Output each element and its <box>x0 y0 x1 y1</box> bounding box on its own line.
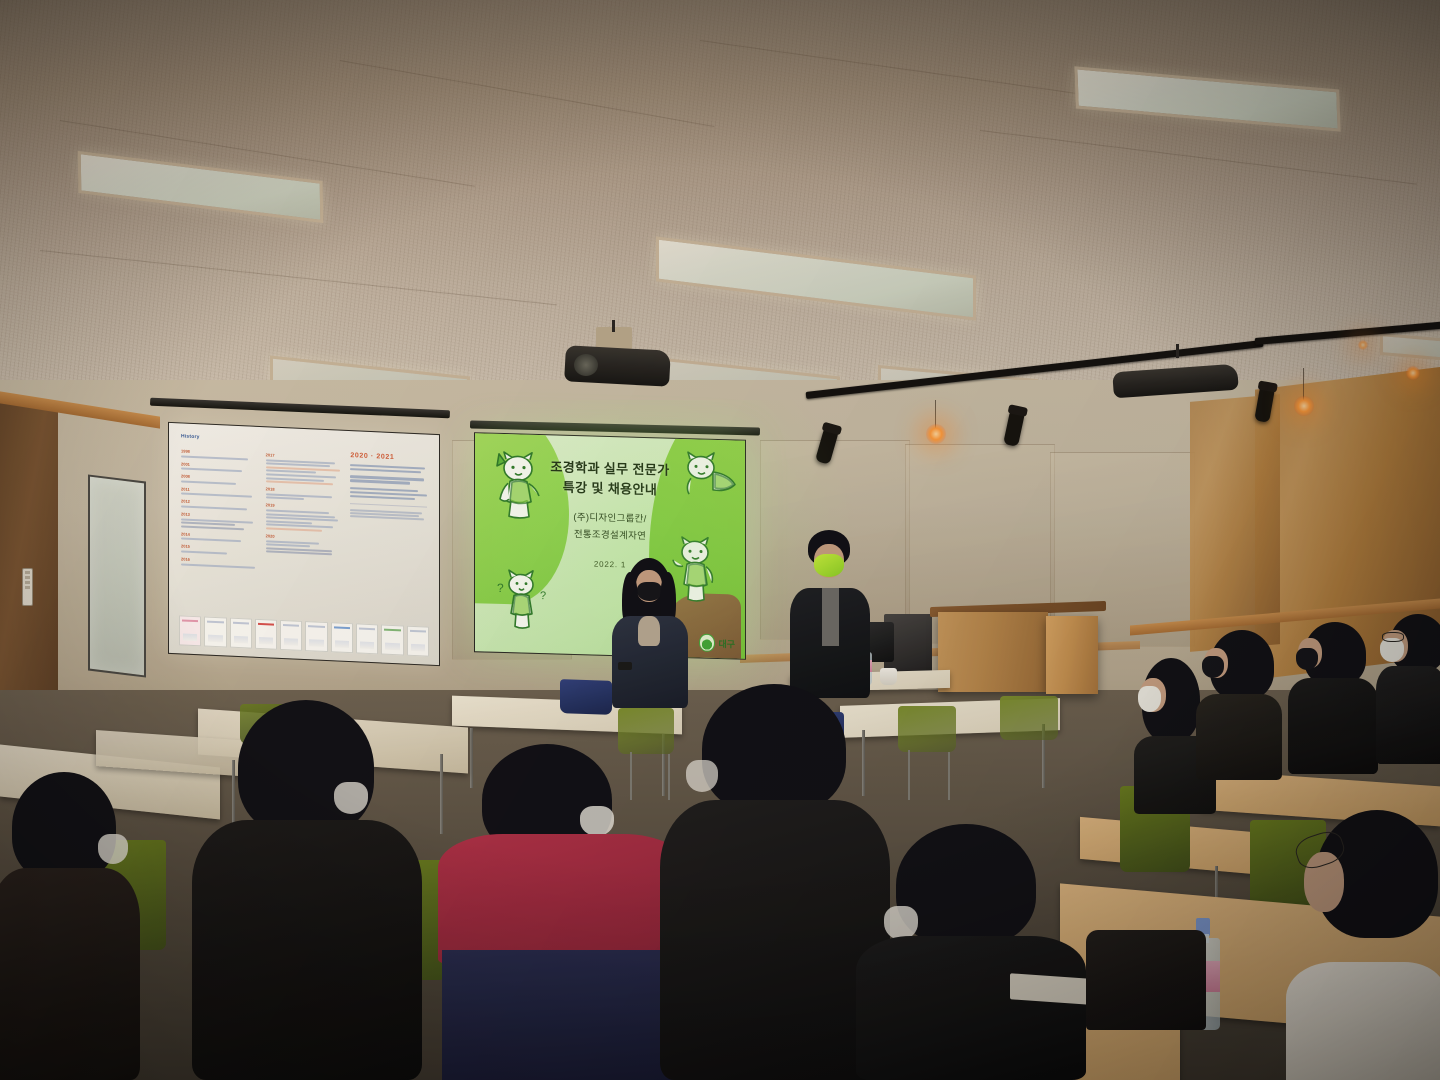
history-column-2: 2017 2018 2019 <box>266 448 343 572</box>
pendant-bulb <box>1294 396 1314 416</box>
host-face-mask <box>814 554 844 577</box>
pendant-bulb <box>926 424 946 444</box>
presenter-scarf <box>638 616 660 646</box>
projector-mount-arm <box>1176 344 1179 358</box>
chair-leg <box>948 752 950 800</box>
audience-member <box>0 772 140 1080</box>
tiger-mascot-icon: ? ? <box>495 568 551 632</box>
leaf-icon <box>699 633 715 651</box>
projection-screen-left: History 1998 2001 2008 2011 2012 2013 <box>168 422 440 666</box>
certificate-thumbnail <box>331 622 353 653</box>
daegu-logo: 대구 <box>699 633 735 652</box>
audience-member <box>1282 622 1378 772</box>
light-switch-panel[interactable] <box>22 568 33 606</box>
audience-face-mask <box>98 834 128 864</box>
audience-face-mask <box>1138 686 1161 712</box>
divider <box>350 503 427 507</box>
notebook[interactable] <box>1010 973 1090 1005</box>
certificate-thumbnail <box>407 626 429 657</box>
frosted-glass-window <box>88 474 146 677</box>
audience-face-mask <box>1202 656 1224 678</box>
audience-face-mask <box>1296 648 1318 670</box>
audience-member <box>438 744 688 1080</box>
audience-torso <box>192 820 422 1080</box>
svg-text:?: ? <box>540 590 546 602</box>
audience-member <box>1190 630 1282 778</box>
presenter-face-mask <box>637 582 662 601</box>
chair-leg <box>908 750 910 800</box>
audience-face-mask <box>334 782 368 814</box>
certificate-thumbnail <box>204 616 226 647</box>
standing-host <box>790 530 870 698</box>
projector-mount-arm <box>612 320 615 332</box>
presentation-remote[interactable] <box>618 662 632 670</box>
certificate-thumbnail <box>255 619 277 650</box>
certificate-thumbnail-row <box>179 615 429 656</box>
audience-torso <box>1288 678 1378 774</box>
audience-face-mask <box>686 760 718 792</box>
certificate-thumbnail <box>305 621 327 652</box>
audience-member <box>1286 810 1440 1080</box>
audience-face-mask <box>580 806 614 836</box>
highlight-paragraph <box>350 487 427 501</box>
award-group-footer <box>350 509 427 520</box>
paper-cup[interactable] <box>880 668 897 685</box>
audience-member <box>856 824 1086 1080</box>
audience-jacket-upper <box>438 834 688 964</box>
audience-hair <box>12 772 116 882</box>
audience-member <box>1376 614 1440 760</box>
highlight-heading: 2020 · 2021 <box>350 452 427 462</box>
logo-text: 대구 <box>718 637 735 650</box>
audience-hair <box>702 684 846 814</box>
audience-jacket-lower <box>442 950 686 1080</box>
lectern[interactable] <box>938 612 1048 692</box>
certificate-thumbnail <box>179 615 201 646</box>
highlight-paragraph <box>350 475 427 485</box>
pendant-bulb <box>1406 366 1420 380</box>
audience-torso <box>1376 666 1440 764</box>
highlight-paragraph <box>350 464 427 474</box>
chair[interactable] <box>1000 696 1058 740</box>
chair[interactable] <box>560 679 612 715</box>
audience-hair <box>238 700 374 836</box>
pendant-bulb <box>1358 340 1368 350</box>
certificate-thumbnail <box>381 625 403 656</box>
certificate-thumbnail <box>230 618 252 649</box>
history-column-1: 1998 2001 2008 2011 2012 2013 2014 <box>181 444 258 568</box>
slide-text-block: 조경학과 실무 전문가 특강 및 채용안내 (주)디자인그룹칸/ 전통조경설계자… <box>475 455 745 572</box>
lectern-side <box>1046 616 1098 694</box>
projector-lens <box>574 354 598 376</box>
certificate-thumbnail <box>356 623 378 654</box>
audience-torso <box>856 936 1086 1080</box>
host-shirt <box>822 588 839 646</box>
eyeglasses-icon <box>1382 632 1404 642</box>
bag <box>1086 930 1206 1030</box>
svg-text:?: ? <box>497 581 504 595</box>
audience-torso <box>0 868 140 1080</box>
audience-member <box>192 700 422 1080</box>
history-column-highlight: 2020 · 2021 <box>350 452 427 576</box>
audience-torso <box>1196 694 1282 780</box>
lecture-hall-photo: History 1998 2001 2008 2011 2012 2013 <box>0 0 1440 1080</box>
chair[interactable] <box>898 706 956 752</box>
audience-shirt <box>1286 962 1440 1080</box>
certificate-thumbnail <box>280 620 302 651</box>
audience-face-mask <box>884 906 918 940</box>
